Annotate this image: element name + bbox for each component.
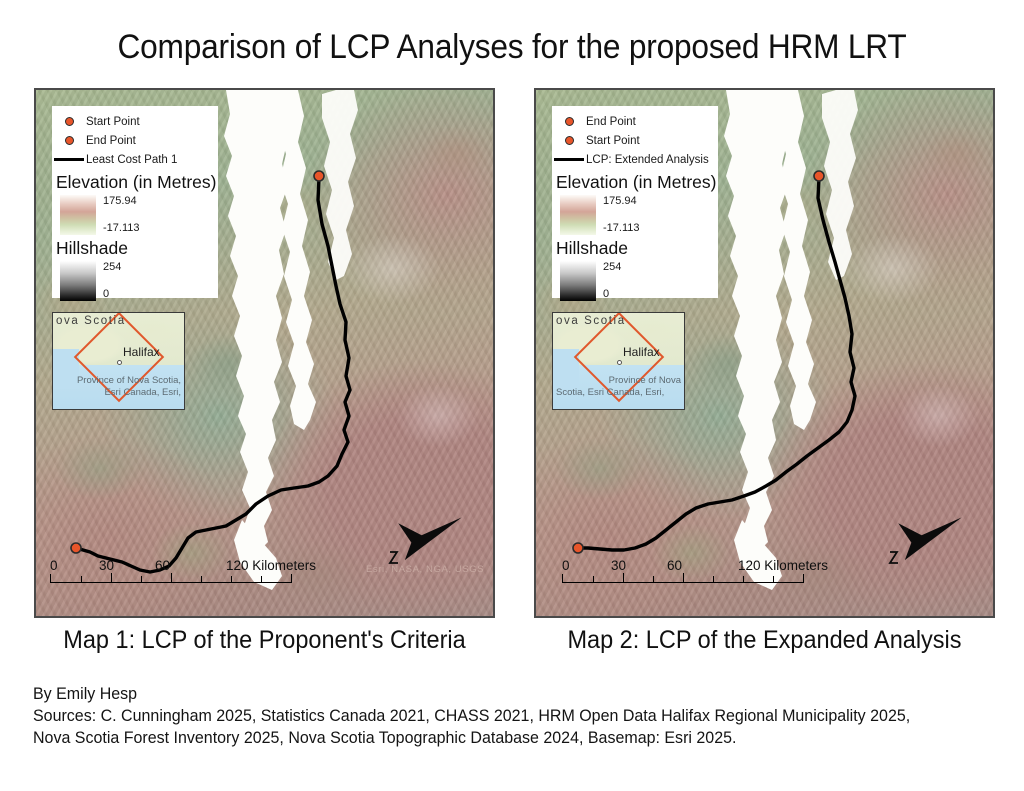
- path-line-icon: [552, 158, 586, 161]
- legend-item-start-point: Start Point: [52, 112, 218, 131]
- hillshade-max-label: 254: [603, 262, 621, 273]
- inset-city-dot: [617, 360, 622, 365]
- end-point-icon: [552, 117, 586, 126]
- legend-item-start-point: Start Point: [552, 131, 718, 150]
- start-point-marker-1: [71, 543, 81, 553]
- elevation-max-label: 175.94: [603, 196, 640, 207]
- map-panel-1[interactable]: Start Point End Point Least Cost Path 1 …: [34, 88, 495, 618]
- legend-heading-hillshade: Hillshade: [56, 238, 218, 259]
- sources-line-1: Sources: C. Cunningham 2025, Statistics …: [33, 705, 974, 727]
- end-point-icon: [52, 136, 86, 145]
- start-point-icon: [552, 136, 586, 145]
- inset-attribution-line-1: Province of Nova: [553, 375, 684, 387]
- elevation-max-label: 175.94: [103, 196, 140, 207]
- scale-label-30: 30: [99, 558, 114, 573]
- author-line: By Emily Hesp: [33, 683, 974, 705]
- map-caption-2: Map 2: LCP of the Expanded Analysis: [548, 626, 981, 655]
- page-title: Comparison of LCP Analyses for the propo…: [36, 28, 988, 67]
- elevation-min-label: -17.113: [603, 223, 640, 234]
- start-point-marker-2: [573, 543, 583, 553]
- scale-label-120: 120 Kilometers: [226, 558, 316, 573]
- legend-label: End Point: [86, 135, 136, 147]
- end-point-marker-2: [814, 171, 824, 181]
- legend-label: LCP: Extended Analysis: [586, 154, 709, 166]
- inset-region-label: ova Scotia: [556, 315, 626, 327]
- scale-bar-1: 0 30 60 120 Kilometers: [50, 558, 310, 583]
- scale-bar-2: 0 30 60 120 Kilometers: [562, 558, 822, 583]
- legend-heading-elevation: Elevation (in Metres): [556, 172, 718, 193]
- elevation-color-ramp: 175.94 -17.113: [60, 195, 218, 235]
- map-caption-1: Map 1: LCP of the Proponent's Criteria: [48, 626, 481, 655]
- legend-label: End Point: [586, 116, 636, 128]
- scale-label-60: 60: [155, 558, 170, 573]
- elevation-min-label: -17.113: [103, 223, 140, 234]
- inset-attribution-line-2: Esri Canada, Esri,: [53, 387, 184, 399]
- legend-label: Least Cost Path 1: [86, 154, 177, 166]
- legend-2: End Point Start Point LCP: Extended Anal…: [552, 106, 718, 298]
- legend-item-end-point: End Point: [552, 112, 718, 131]
- legend-heading-elevation: Elevation (in Metres): [56, 172, 218, 193]
- hillshade-min-label: 0: [103, 289, 121, 300]
- legend-item-end-point: End Point: [52, 131, 218, 150]
- inset-city-dot: [117, 360, 122, 365]
- inset-city-label: Halifax: [123, 345, 160, 359]
- inset-locator-map-2[interactable]: ova Scotia Halifax Province of Nova Scot…: [552, 312, 685, 410]
- inset-attribution-line-1: Province of Nova Scotia,: [53, 375, 184, 387]
- elevation-color-ramp: 175.94 -17.113: [560, 195, 718, 235]
- scale-label-0: 0: [50, 558, 58, 573]
- hillshade-color-ramp: 254 0: [560, 261, 718, 301]
- legend-label: Start Point: [86, 116, 140, 128]
- scale-label-60: 60: [667, 558, 682, 573]
- scale-label-0: 0: [562, 558, 570, 573]
- scale-label-30: 30: [611, 558, 626, 573]
- hillshade-color-ramp: 254 0: [60, 261, 218, 301]
- legend-item-path: LCP: Extended Analysis: [552, 150, 718, 169]
- basemap-attribution-1: Esri, NASA, NGA, USGS: [366, 564, 484, 575]
- hillshade-min-label: 0: [603, 289, 621, 300]
- legend-heading-hillshade: Hillshade: [556, 238, 718, 259]
- scale-label-120: 120 Kilometers: [738, 558, 828, 573]
- legend-item-path: Least Cost Path 1: [52, 150, 218, 169]
- end-point-marker-1: [314, 171, 324, 181]
- inset-region-label: ova Scotia: [56, 315, 126, 327]
- legend-label: Start Point: [586, 135, 640, 147]
- map-figure-page: Comparison of LCP Analyses for the propo…: [0, 0, 1024, 791]
- path-line-icon: [52, 158, 86, 161]
- sources-line-2: Nova Scotia Forest Inventory 2025, Nova …: [33, 727, 974, 749]
- inset-city-label: Halifax: [623, 345, 660, 359]
- map-panel-2[interactable]: End Point Start Point LCP: Extended Anal…: [534, 88, 995, 618]
- inset-attribution-line-2: Scotia, Esri Canada, Esri,: [553, 387, 684, 399]
- legend-1: Start Point End Point Least Cost Path 1 …: [52, 106, 218, 298]
- inset-locator-map-1[interactable]: ova Scotia Halifax Province of Nova Scot…: [52, 312, 185, 410]
- footer-block: By Emily Hesp Sources: C. Cunningham 202…: [33, 683, 974, 749]
- start-point-icon: [52, 117, 86, 126]
- hillshade-max-label: 254: [103, 262, 121, 273]
- north-arrow-1: [384, 492, 464, 572]
- north-arrow-2: [884, 492, 964, 572]
